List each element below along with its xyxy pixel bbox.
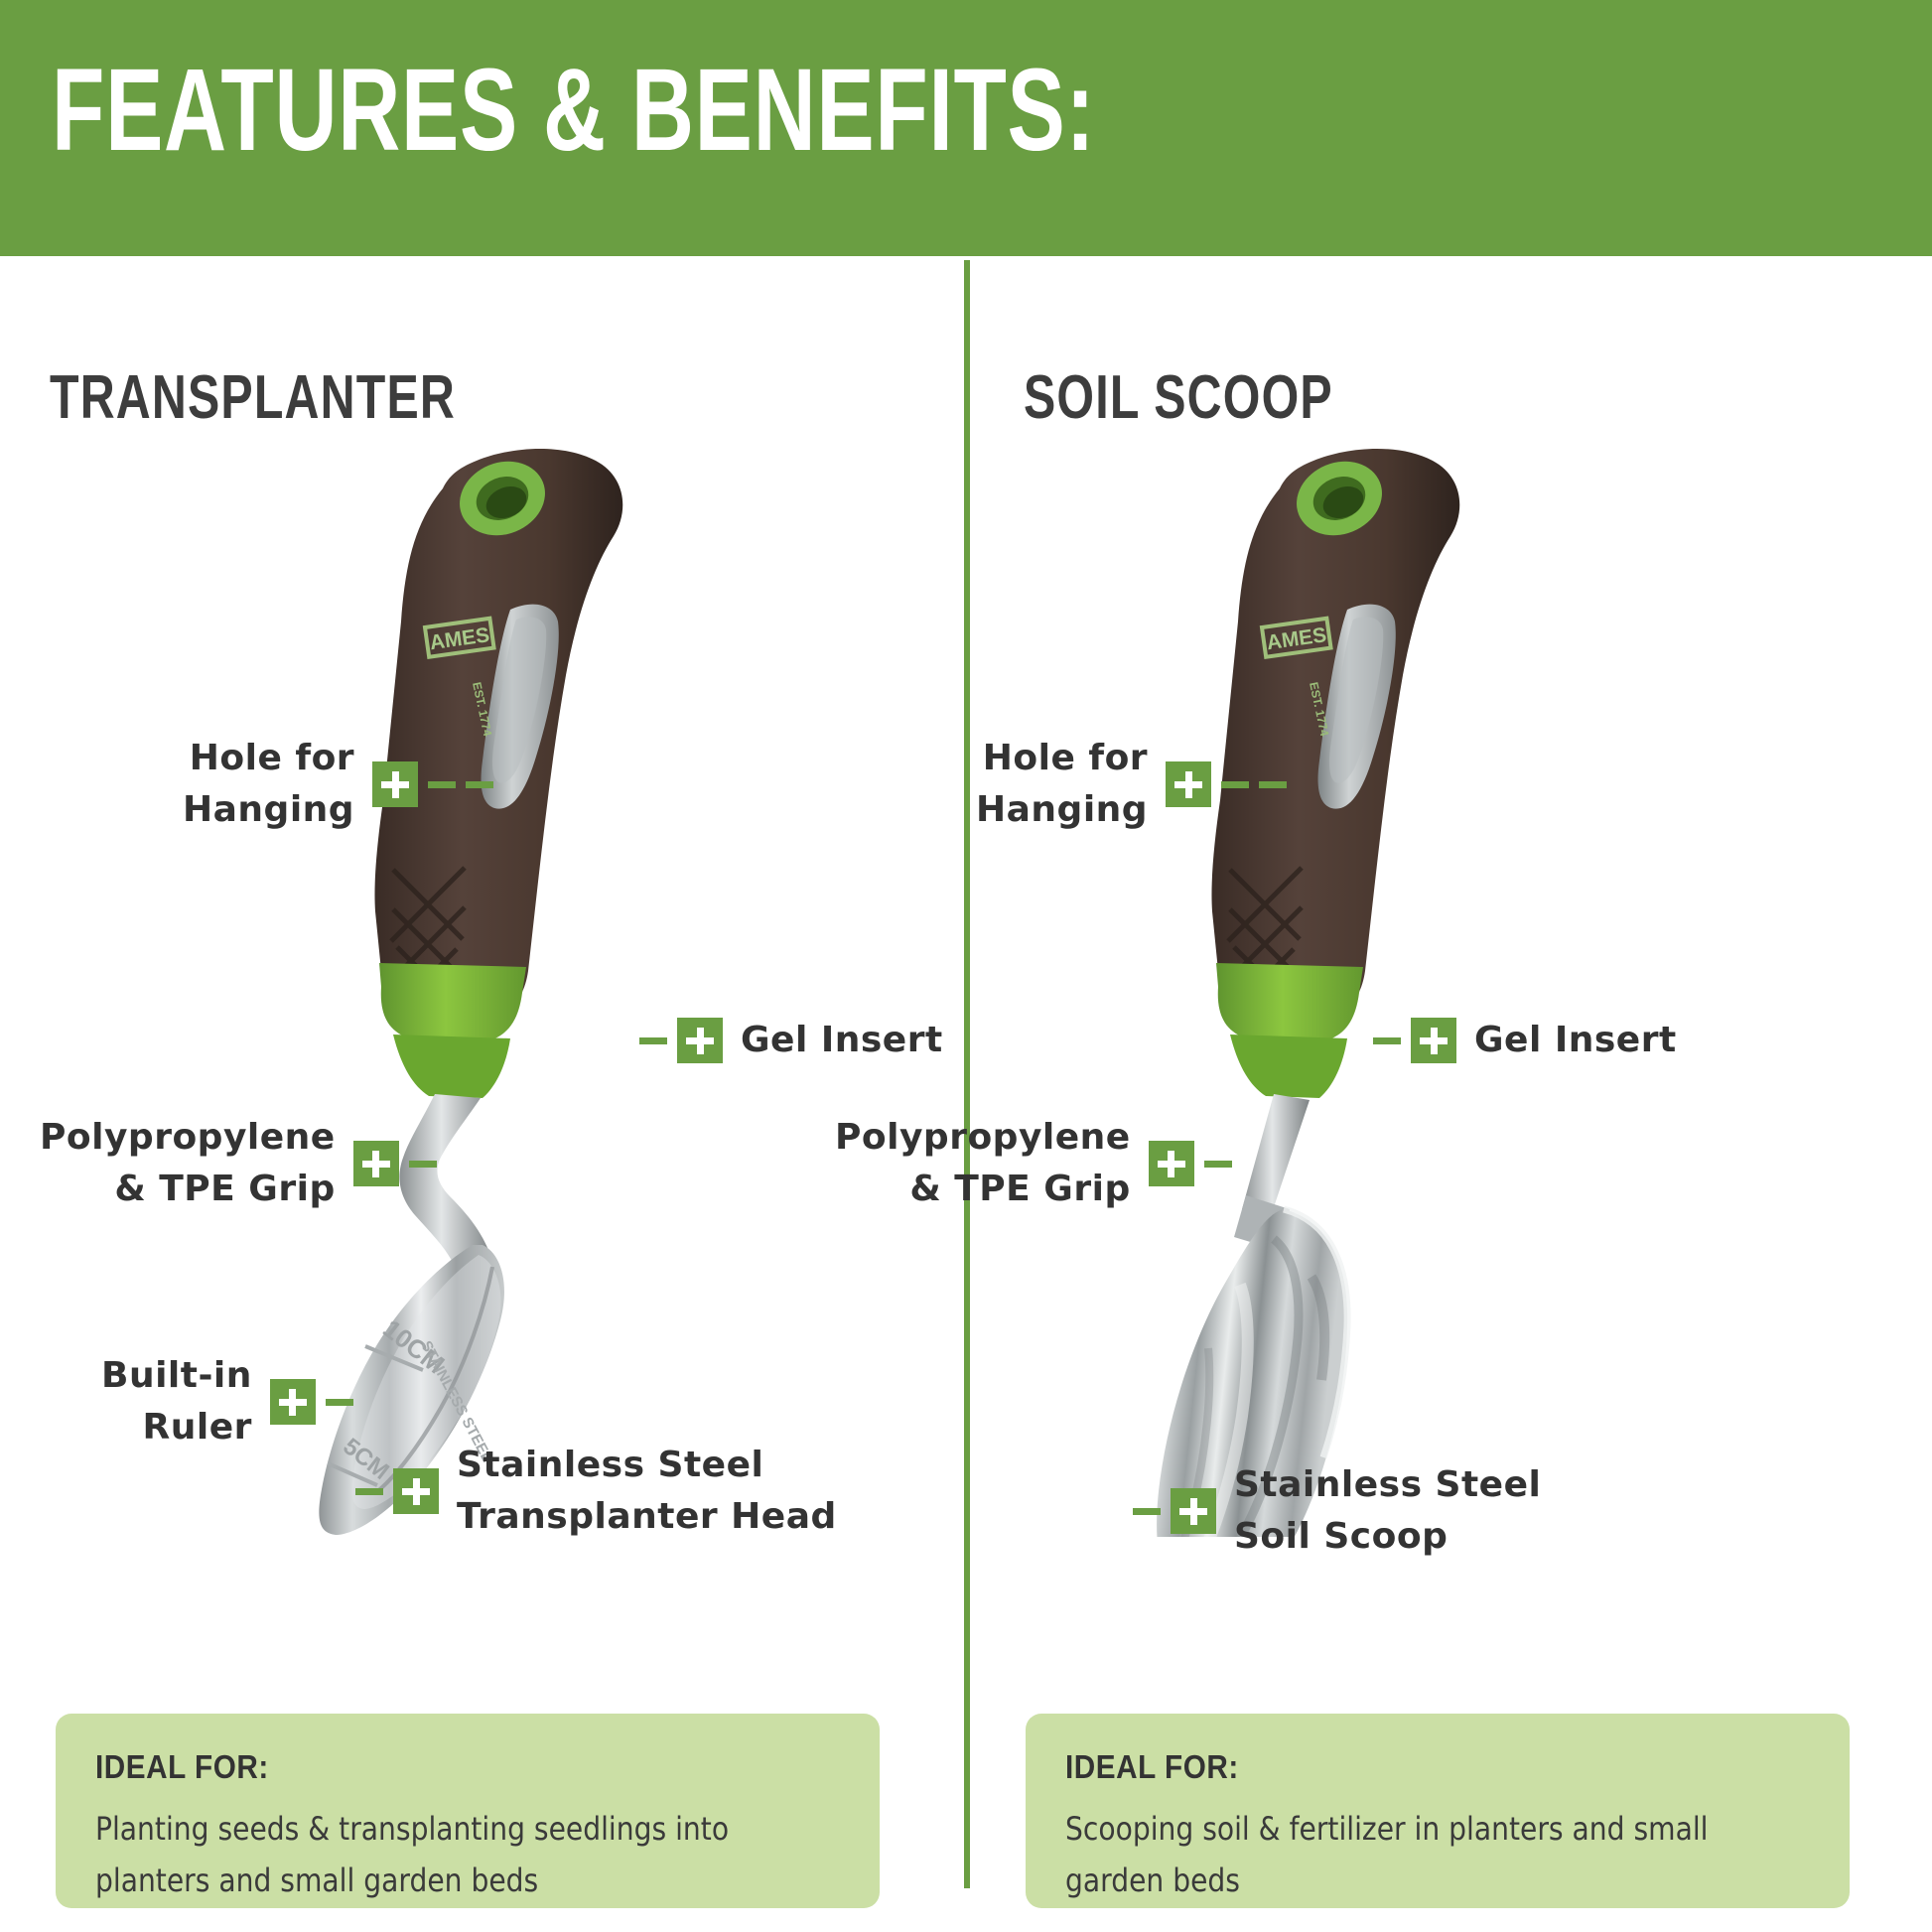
brand-logo: AMES: [425, 619, 494, 657]
connector-dash: [1259, 781, 1287, 788]
plus-icon: [353, 1141, 399, 1186]
plus-icon: [372, 761, 418, 807]
column-soil-scoop: SOIL SCOOP: [966, 256, 1932, 1932]
callout-polypropylene-tpe-grip: Polypropylene & TPE Grip: [40, 1112, 437, 1215]
connector-dash: [326, 1399, 353, 1406]
callout-label: Stainless Steel Transplanter Head: [457, 1440, 837, 1543]
connector-dash: [639, 1037, 667, 1044]
plus-icon: [677, 1018, 723, 1063]
connector-dash: [1373, 1037, 1401, 1044]
header-banner: FEATURES & BENEFITS:: [0, 0, 1932, 256]
connector-dash: [355, 1488, 383, 1495]
brand-logo: AMES: [1262, 619, 1331, 657]
callout-label: Hole for Hanging: [183, 733, 354, 836]
callout-label: Stainless Steel Soil Scoop: [1234, 1459, 1541, 1563]
plus-icon: [1411, 1018, 1456, 1063]
page-title: FEATURES & BENEFITS:: [52, 52, 1095, 169]
callout-polypropylene-tpe-grip: Polypropylene & TPE Grip: [835, 1112, 1232, 1215]
callout-label: Gel Insert: [741, 1015, 943, 1066]
callout-label: Polypropylene & TPE Grip: [835, 1112, 1131, 1215]
ideal-for-heading: IDEAL FOR:: [95, 1747, 765, 1787]
callout-stainless-steel-scoop: Stainless Steel Soil Scoop: [1133, 1459, 1541, 1563]
connector-dash: [1133, 1508, 1161, 1515]
plus-icon: [1149, 1141, 1194, 1186]
callout-label: Built-in Ruler: [101, 1350, 252, 1453]
ferrule-collar: [379, 963, 526, 1042]
ferrule-collar: [1216, 963, 1363, 1042]
callout-hole-for-hanging: Hole for Hanging: [976, 733, 1287, 836]
ideal-for-box-soil-scoop: IDEAL FOR: Scooping soil & fertilizer in…: [1026, 1714, 1850, 1908]
connector-dash: [1221, 781, 1249, 788]
callout-hole-for-hanging: Hole for Hanging: [183, 733, 493, 836]
callout-gel-insert: Gel Insert: [639, 1015, 943, 1066]
connector-dash: [466, 781, 493, 788]
soil-scoop-tool-image: AMES EST. 1774: [1135, 415, 1582, 1537]
connector-dash: [1204, 1161, 1232, 1168]
callout-gel-insert: Gel Insert: [1373, 1015, 1677, 1066]
callout-label: Hole for Hanging: [976, 733, 1148, 836]
callout-label: Polypropylene & TPE Grip: [40, 1112, 336, 1215]
callout-built-in-ruler: Built-in Ruler: [101, 1350, 353, 1453]
ideal-for-heading: IDEAL FOR:: [1065, 1747, 1735, 1787]
connector-dash: [428, 781, 456, 788]
ferrule-lower: [393, 1035, 510, 1098]
soil-scoop-artwork: AMES EST. 1774: [966, 256, 1932, 1666]
ideal-for-box-transplanter: IDEAL FOR: Planting seeds & transplantin…: [56, 1714, 880, 1908]
plus-icon: [1171, 1488, 1216, 1534]
transplanter-tool-image: AMES EST. 1774: [298, 415, 715, 1537]
ideal-for-body: Scooping soil & fertilizer in planters a…: [1065, 1803, 1812, 1906]
callout-stainless-steel-head: Stainless Steel Transplanter Head: [355, 1440, 837, 1543]
ferrule-lower: [1230, 1035, 1347, 1098]
callout-label: Gel Insert: [1474, 1015, 1677, 1066]
ideal-for-body: Planting seeds & transplanting seedlings…: [95, 1803, 842, 1906]
plus-icon: [270, 1379, 316, 1425]
plus-icon: [393, 1468, 439, 1514]
infographic-page: FEATURES & BENEFITS: TRANSPLANTER: [0, 0, 1932, 1932]
column-transplanter: TRANSPLANTER: [0, 256, 966, 1932]
plus-icon: [1166, 761, 1211, 807]
connector-dash: [409, 1161, 437, 1168]
